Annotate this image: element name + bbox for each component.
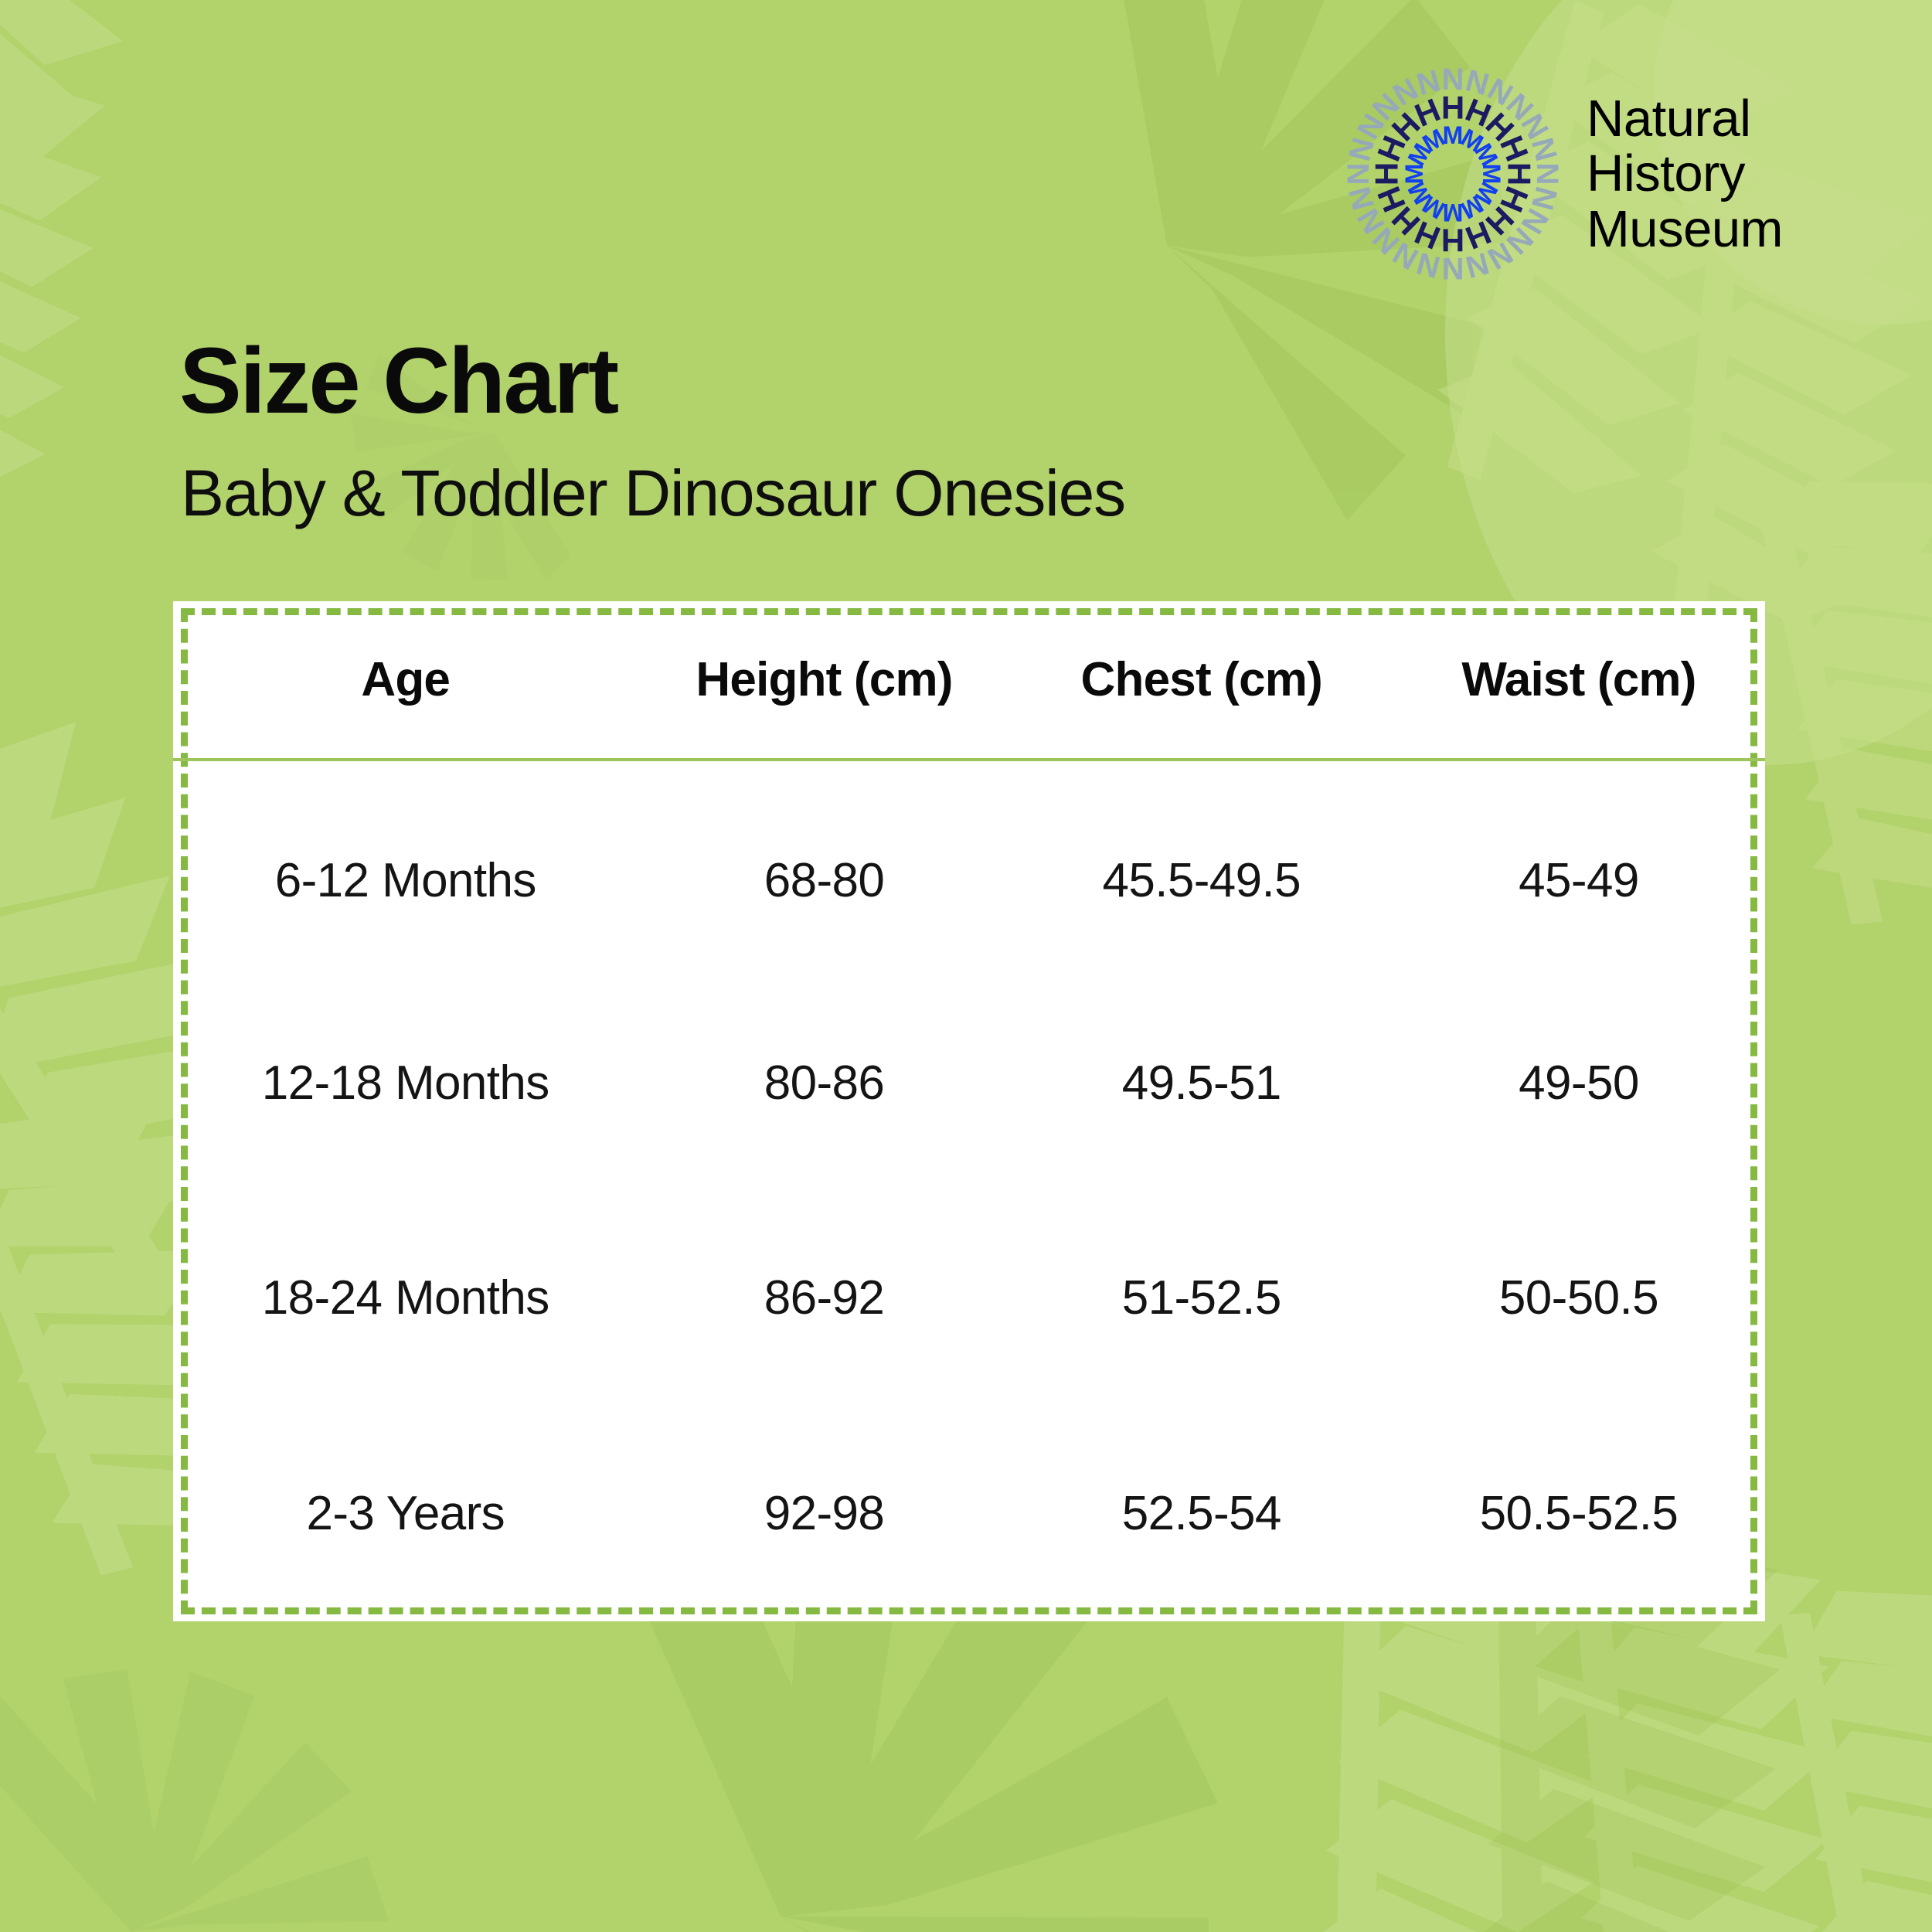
cell-age: 12-18 Months — [173, 975, 638, 1191]
size-chart-poster: NNNNNNNNNNNNNNNNNNNNNNNN HHHHHHHHHHHHHHH… — [0, 0, 1932, 1932]
cell-waist: 50.5-52.5 — [1393, 1406, 1765, 1621]
museum-name-line-3: Museum — [1587, 202, 1783, 257]
column-header-waist: Waist (cm) — [1393, 601, 1765, 760]
cell-chest: 52.5-54 — [1011, 1406, 1393, 1621]
cell-age: 6-12 Months — [173, 760, 638, 975]
table-header-row: Age Height (cm) Chest (cm) Waist (cm) — [173, 601, 1765, 760]
table-row: 2-3 Years92-9852.5-5450.5-52.5 — [173, 1406, 1765, 1621]
svg-text:H: H — [1441, 90, 1464, 126]
cell-height: 86-92 — [638, 1191, 1011, 1406]
size-chart-card: Age Height (cm) Chest (cm) Waist (cm) 6-… — [173, 601, 1765, 1621]
table-row: 6-12 Months68-8045.5-49.545-49 — [173, 760, 1765, 975]
cell-chest: 45.5-49.5 — [1011, 760, 1393, 975]
museum-logo: NNNNNNNNNNNNNNNNNNNNNNNN HHHHHHHHHHHHHHH… — [1341, 62, 1820, 286]
museum-name: Natural History Museum — [1587, 91, 1783, 256]
cell-age: 18-24 Months — [173, 1191, 638, 1406]
cell-chest: 49.5-51 — [1011, 975, 1393, 1191]
svg-text:H: H — [1369, 162, 1405, 185]
page-subtitle: Baby & Toddler Dinosaur Onesies — [181, 461, 1125, 526]
size-chart-table: Age Height (cm) Chest (cm) Waist (cm) 6-… — [173, 601, 1765, 1621]
page-title: Size Chart — [179, 334, 617, 427]
column-header-chest: Chest (cm) — [1011, 601, 1393, 760]
cell-height: 92-98 — [638, 1406, 1011, 1621]
svg-text:H: H — [1441, 223, 1464, 259]
nhm-radial-letters-logo-icon: NNNNNNNNNNNNNNNNNNNNNNNN HHHHHHHHHHHHHHH… — [1341, 62, 1565, 286]
museum-name-line-1: Natural — [1587, 91, 1783, 146]
table-row: 12-18 Months80-8649.5-5149-50 — [173, 975, 1765, 1191]
cell-age: 2-3 Years — [173, 1406, 638, 1621]
cell-waist: 49-50 — [1393, 975, 1765, 1191]
museum-name-line-2: History — [1587, 146, 1783, 201]
cell-height: 80-86 — [638, 975, 1011, 1191]
cell-chest: 51-52.5 — [1011, 1191, 1393, 1406]
svg-text:H: H — [1502, 162, 1538, 185]
cell-waist: 45-49 — [1393, 760, 1765, 975]
cell-height: 68-80 — [638, 760, 1011, 975]
cell-waist: 50-50.5 — [1393, 1191, 1765, 1406]
table-row: 18-24 Months86-9251-52.550-50.5 — [173, 1191, 1765, 1406]
column-header-age: Age — [173, 601, 638, 760]
column-header-height: Height (cm) — [638, 601, 1011, 760]
